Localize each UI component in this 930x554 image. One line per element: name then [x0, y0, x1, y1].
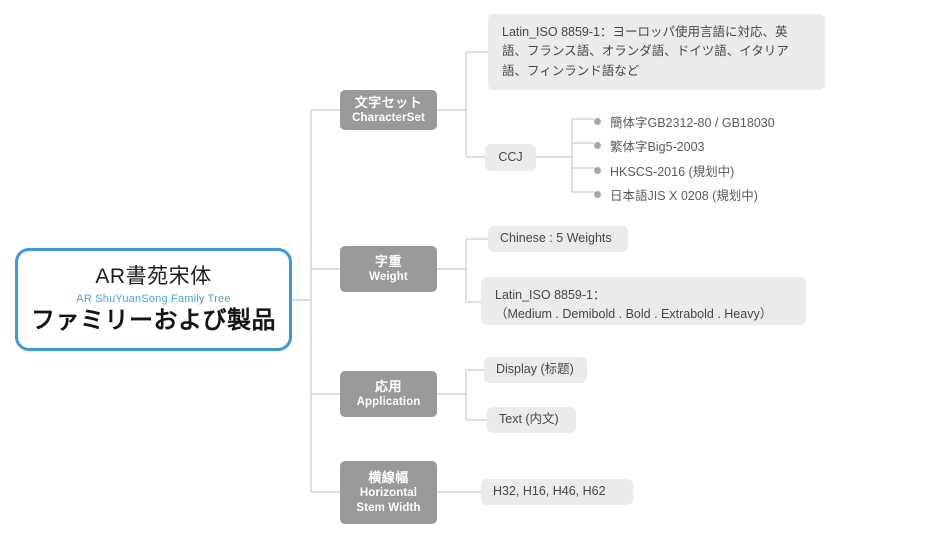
category-label-en2: Stem Width	[356, 501, 420, 515]
category-label-jp: 横線幅	[368, 470, 409, 486]
category-node-horizontal-stem-width[interactable]: 横線幅 Horizontal Stem Width	[340, 461, 437, 524]
category-label-en: Weight	[369, 270, 408, 284]
chip-chinese-weights[interactable]: Chinese : 5 Weights	[488, 226, 628, 252]
category-label-en: Application	[357, 395, 421, 409]
chip-latin-weights[interactable]: Latin_ISO 8859-1： （Medium . Demibold . B…	[481, 277, 806, 325]
category-node-weight[interactable]: 字重 Weight	[340, 246, 437, 292]
category-node-characterset[interactable]: 文字セット CharacterSet	[340, 90, 437, 130]
chip-text[interactable]: Text (内文)	[487, 407, 576, 433]
category-label-jp: 応用	[375, 379, 402, 395]
chip-line-2: （Medium . Demibold . Bold . Extrabold . …	[495, 305, 792, 324]
bullet-item-big5[interactable]: 繁体字Big5-2003	[594, 136, 705, 155]
chip-ccj[interactable]: CCJ	[485, 144, 536, 171]
bullet-dot-icon	[594, 167, 601, 174]
bullet-item-jis[interactable]: 日本語JIS X 0208 (規划中)	[594, 185, 758, 204]
chip-stem-widths[interactable]: H32, H16, H46, H62	[481, 479, 633, 505]
family-tree-diagram: AR書苑宋体 AR ShuYuanSong Family Tree ファミリーお…	[0, 0, 930, 554]
category-label-jp: 字重	[375, 254, 402, 270]
category-label-en: Horizontal	[360, 486, 417, 500]
root-main-label: ファミリーおよび製品	[31, 307, 276, 335]
bullet-dot-icon	[594, 191, 601, 198]
category-label-jp: 文字セット	[355, 95, 423, 111]
bullet-label: 日本語JIS X 0208 (規划中)	[610, 185, 758, 204]
category-node-application[interactable]: 応用 Application	[340, 371, 437, 417]
root-node[interactable]: AR書苑宋体 AR ShuYuanSong Family Tree ファミリーお…	[15, 248, 292, 351]
root-subtitle: AR ShuYuanSong Family Tree	[76, 293, 230, 305]
category-label-en: CharacterSet	[352, 111, 425, 125]
root-title: AR書苑宋体	[95, 265, 211, 288]
bullet-dot-icon	[594, 118, 601, 125]
chip-line-1: Latin_ISO 8859-1：	[495, 286, 792, 305]
bullet-label: 繁体字Big5-2003	[610, 136, 705, 155]
bullet-label: 簡体字GB2312-80 / GB18030	[610, 112, 775, 131]
bullet-item-hkscs[interactable]: HKSCS-2016 (規划中)	[594, 161, 734, 180]
bullet-label: HKSCS-2016 (規划中)	[610, 161, 734, 180]
chip-display[interactable]: Display (标题)	[484, 357, 587, 383]
bullet-dot-icon	[594, 142, 601, 149]
chip-latin-iso-languages[interactable]: Latin_ISO 8859-1：ヨーロッパ使用言語に対応、英語、フランス語、オ…	[488, 14, 825, 90]
bullet-item-gb2312[interactable]: 簡体字GB2312-80 / GB18030	[594, 112, 775, 131]
